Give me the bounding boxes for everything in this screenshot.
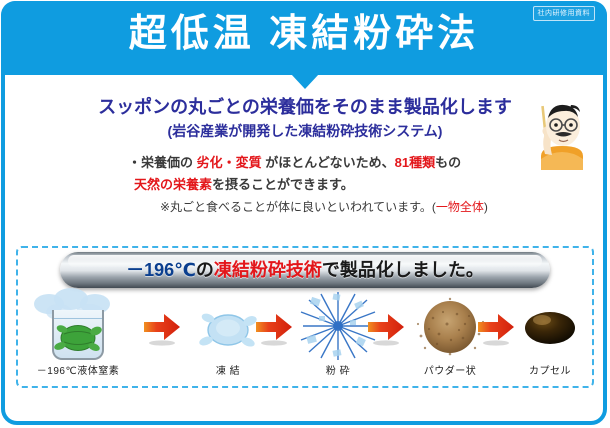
infographic-page: 超低温 凍結粉砕法 社内研修用資料 スッポンの丸ごとの栄養価をそのまま製品化しま… xyxy=(0,0,610,428)
process-banner: －196℃の凍結粉砕技術で製品化しました。 xyxy=(60,252,550,288)
step-5-label: カプセル xyxy=(498,362,602,377)
capsule-icon xyxy=(504,288,596,362)
banner-temp: －196℃ xyxy=(126,260,196,280)
red-arrow-icon-3 xyxy=(366,312,406,346)
process-step-1: －196℃液体窒素 xyxy=(32,288,124,384)
beaker-with-turtle-icon xyxy=(32,288,124,362)
internal-use-badge: 社内研修用資料 xyxy=(533,6,596,21)
bullet-line-1: ・栄養価の 劣化・変質 がほとんどないため、81種類もの xyxy=(128,152,548,174)
bullet-line-3: ※丸ごと食べることが体に良いといわれています。(一物全体) xyxy=(128,196,548,218)
bullet-1-part-b: がほとんどないため、 xyxy=(262,155,395,170)
red-arrow-icon-2 xyxy=(254,312,294,346)
sublead-text: (岩谷産業が開発した凍結粉砕技術システム) xyxy=(0,121,610,141)
professor-character-illustration xyxy=(531,96,593,170)
banner-mid-a: の xyxy=(196,260,214,280)
bullet-3-part-a: ※丸ごと食べることが体に良いといわれています。( xyxy=(160,200,436,214)
banner-tech: 凍結粉砕技術 xyxy=(214,260,322,280)
step-1-label: －196℃液体窒素 xyxy=(26,362,130,377)
bullet-2-highlight: 天然の栄養素 xyxy=(134,177,212,192)
process-steps: －196℃液体窒素 xyxy=(24,288,586,384)
bullet-1-highlight: 劣化・変質 xyxy=(197,155,262,170)
bullet-3-highlight: 一物全体 xyxy=(436,200,484,214)
bullet-1-part-a: ・栄養価の xyxy=(128,155,197,170)
step-2-label: 凍 結 xyxy=(176,362,280,377)
banner-text: －196℃の凍結粉砕技術で製品化しました。 xyxy=(60,252,550,288)
bullet-1-part-c: もの xyxy=(435,155,461,170)
step-3-label: 粉 砕 xyxy=(286,362,390,377)
banner-mid-b: で製品化しました。 xyxy=(322,260,484,280)
bullet-3-part-b: ) xyxy=(484,200,488,214)
red-arrow-icon-1 xyxy=(142,312,182,346)
lead-text: スッポンの丸ごとの栄養価をそのまま製品化します xyxy=(0,95,610,119)
process-step-5: カプセル xyxy=(504,288,596,384)
step-4-label: パウダー状 xyxy=(398,362,502,377)
page-header: 超低温 凍結粉砕法 社内研修用資料 xyxy=(1,1,607,75)
header-notch-icon xyxy=(291,74,319,89)
bullet-line-2: 天然の栄養素を摂ることができます。 xyxy=(128,174,548,196)
bullet-list: ・栄養価の 劣化・変質 がほとんどないため、81種類もの 天然の栄養素を摂ること… xyxy=(128,152,548,218)
bullet-1-highlight-count: 81種類 xyxy=(395,155,435,170)
page-title: 超低温 凍結粉砕法 xyxy=(1,7,607,61)
bullet-2-part-b: を摂ることができます。 xyxy=(212,177,354,192)
